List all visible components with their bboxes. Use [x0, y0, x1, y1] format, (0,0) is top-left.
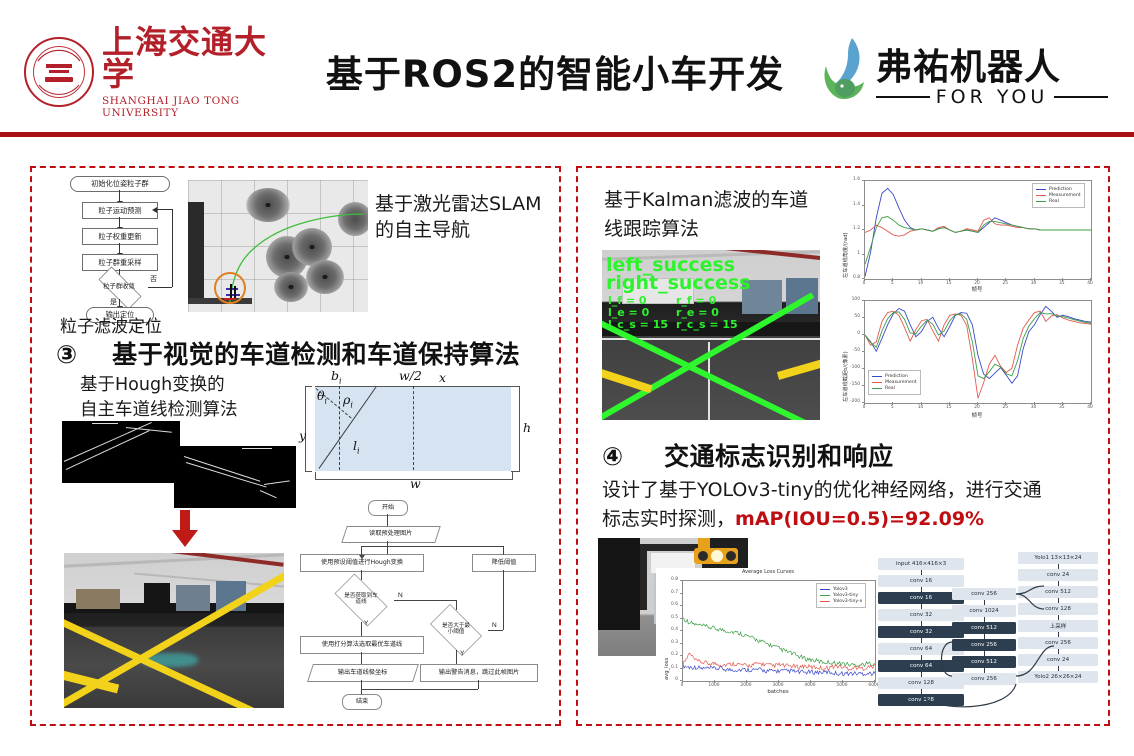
legend-label: Real	[885, 386, 895, 391]
y-tick	[680, 580, 683, 581]
hough-node-output-polar: 输出车道线极坐标	[307, 664, 419, 682]
legend-swatch	[1036, 201, 1046, 203]
kalman-caption-line2: 线跟踪算法	[604, 215, 824, 244]
legend-item: Measurement	[1036, 193, 1081, 198]
y-tick	[862, 317, 865, 318]
section-4-body-prefix: 标志实时探测，	[602, 508, 735, 530]
sjtu-seal-icon	[24, 37, 94, 107]
legend-swatch	[820, 589, 830, 591]
legend-label: Real	[1049, 199, 1059, 204]
y-tick-label: 0	[834, 331, 860, 336]
particle-filter-flowchart: 初始化位姿粒子群 粒子运动预测 粒子权重更新 粒子群重采样 粒子群收敛 否 是 …	[64, 176, 174, 306]
y-axis-label: 左车道线角度/(rad)	[842, 232, 849, 278]
university-name-en: SHANGHAI JIAO TONG UNIVERSITY	[102, 95, 294, 119]
y-tick	[680, 630, 683, 631]
hough-flowchart: 开始 读取预处理图片 使用预设阈值进行Hough变换 降低阈值 是否获取到车道线…	[294, 500, 544, 715]
y-axis-label: 左车道线截距b/(像素)	[842, 351, 849, 402]
legend-item: Prediction	[1036, 187, 1081, 192]
frame-post	[640, 544, 647, 610]
y-tick-label: 0.6	[656, 602, 678, 607]
y-tick-label: 0.8	[656, 577, 678, 582]
y-tick	[862, 300, 865, 301]
legend-item: Measurement	[872, 380, 917, 385]
net-skip-connections	[878, 536, 1100, 716]
dark-panel	[598, 538, 640, 630]
x-tick-label: 40	[1082, 405, 1098, 410]
section-4-heading: ④ 交通标志识别和响应	[602, 440, 894, 474]
legend-label: Yolov3-tiny-x	[833, 599, 862, 604]
y-tick	[680, 618, 683, 619]
section-4-body-line1: 设计了基于YOLOv3-tiny的优化神经网络，进行交通	[602, 476, 1092, 505]
hough-line-n1	[394, 600, 456, 601]
legend-label: Prediction	[1049, 187, 1072, 192]
x-axis-label: 帧号	[864, 285, 1090, 293]
y-axis-label: avg_loss	[664, 658, 670, 680]
y-tick	[862, 351, 865, 352]
chart-avg-loss: Average Loss Curves010002000300040005000…	[656, 568, 880, 698]
page-title: 基于ROS2的智能小车开发	[300, 44, 810, 98]
down-arrow-icon	[170, 510, 200, 548]
hough-node-score: 使用打分算法选取最优车道线	[300, 636, 424, 654]
slide-page: 上海交通大学 SHANGHAI JIAO TONG UNIVERSITY 基于R…	[0, 0, 1134, 756]
flow-line-feedback-in	[156, 209, 172, 210]
hough-line-loop-top	[361, 546, 503, 547]
foryou-leaf-icon	[818, 36, 870, 102]
hough-arrow-5	[361, 652, 362, 664]
y-tick-label: 0.5	[656, 615, 678, 620]
legend-item: Yolov3-tiny	[820, 593, 862, 598]
flow-arrow-1	[119, 190, 120, 202]
y-tick	[680, 668, 683, 669]
y-tick-label: 0.7	[656, 590, 678, 595]
chart-legend: PredictionMeasurementReal	[868, 370, 921, 395]
section-3-title: 基于视觉的车道检测和车道保持算法	[112, 340, 520, 369]
y-tick	[680, 680, 683, 681]
flow-line-feedback-v	[172, 209, 173, 287]
legend-swatch	[872, 382, 882, 384]
yolo-network-diagram: input 416×416×3conv 16conv 16conv 32conv…	[878, 536, 1100, 716]
hough-arrow-1	[387, 514, 388, 526]
hough-caption-line1: 基于Hough变换的	[80, 373, 238, 398]
y-tick	[862, 278, 865, 279]
tagline-rule-left	[876, 96, 930, 98]
y-tick-label: 1.2	[834, 226, 860, 231]
chart-kalman-angle: 05101520253035400.811.21.41.6帧号左车道线角度/(r…	[834, 174, 1096, 294]
section-4-title: 交通标志识别和响应	[664, 442, 894, 471]
x-axis-label: batches	[682, 689, 874, 695]
kalman-caption-line1: 基于Kalman滤波的车道	[604, 186, 824, 215]
legend-item: Real	[1036, 199, 1081, 204]
hough-node-start: 开始	[368, 500, 408, 516]
flow-branch-no: 否	[150, 274, 157, 284]
flow-node-converge-label: 粒子群收敛	[103, 284, 134, 291]
hough-line-loop-back	[361, 546, 362, 555]
flow-arrow-5	[119, 299, 120, 307]
y-tick	[680, 605, 683, 606]
hough-line-n2	[488, 630, 503, 631]
company-name-en: FOR YOU	[936, 86, 1049, 108]
tagline-rule-right	[1054, 96, 1108, 98]
hough-arrow-6	[361, 680, 362, 694]
flow-node-init: 初始化位姿粒子群	[70, 176, 170, 192]
geometry-h-bracket	[511, 386, 520, 472]
flow-arrow-3	[119, 243, 120, 254]
flow-node-weight: 粒子权重更新	[82, 228, 158, 245]
x-tick-label: 25	[997, 405, 1013, 410]
y-tick	[862, 368, 865, 369]
floor-marking	[602, 368, 652, 393]
chart-legend: Yolov3Yolov3-tinyYolov3-tiny-x	[816, 583, 866, 608]
flow-node-resample: 粒子群重采样	[82, 254, 158, 271]
crate	[76, 589, 120, 609]
slide-header: 上海交通大学 SHANGHAI JIAO TONG UNIVERSITY 基于R…	[0, 0, 1134, 122]
geometry-label-h: h	[523, 420, 531, 435]
particle-filter-caption: 粒子滤波定位	[60, 316, 162, 339]
traffic-light-box	[694, 548, 738, 564]
geometry-dashed-b	[339, 386, 340, 470]
slam-caption-line2: 的自主导航	[375, 218, 555, 244]
hough-decision-lane: 是否获取到车道线	[328, 580, 394, 620]
anvil-icon	[44, 62, 74, 84]
y-tick-label: 0.3	[656, 640, 678, 645]
hough-node-read: 读取预处理图片	[341, 526, 441, 543]
y-tick	[862, 229, 865, 230]
left-panel: 初始化位姿粒子群 粒子运动预测 粒子权重更新 粒子群重采样 粒子群收敛 否 是 …	[30, 166, 561, 726]
hough-branch-no-1: N	[398, 592, 403, 599]
legend-label: Yolov3-tiny	[833, 593, 858, 598]
hough-branch-no-2: N	[492, 622, 497, 629]
hough-line-warn-down	[478, 680, 479, 689]
hough-node-lower-threshold: 降低阈值	[472, 554, 536, 572]
legend-item: Yolov3-tiny-x	[820, 599, 862, 604]
legend-swatch	[1036, 195, 1046, 197]
hough-node-output-warning: 输出警告消息，跳过此帧图片	[420, 664, 538, 682]
hough-line-y2	[456, 650, 457, 664]
university-name-cn: 上海交通大学	[102, 26, 294, 90]
x-axis-label: 帧号	[864, 411, 1090, 419]
x-tick-label: 5	[884, 405, 900, 410]
geometry-label-l: li	[353, 438, 360, 456]
overlay-param-4: l_c_s = 15	[608, 318, 668, 331]
geometry-label-x: x	[439, 370, 446, 385]
chart-kalman-intercept: 0510152025303540-200-150-100-50050100帧号左…	[834, 294, 1096, 420]
slam-caption: 基于激光雷达SLAM 的自主导航	[375, 192, 555, 243]
geometry-label-rho: ρi	[343, 392, 353, 410]
edge-image-right	[174, 446, 296, 508]
hough-branch-yes-2: Y	[460, 650, 464, 657]
header-divider	[0, 132, 1134, 137]
hough-branch-yes-1: Y	[364, 620, 368, 627]
hough-line-loop-down	[503, 546, 504, 555]
y-tick	[680, 593, 683, 594]
hough-caption: 基于Hough变换的 自主车道线检测算法	[80, 373, 238, 424]
section-3-number: ③	[56, 340, 78, 369]
hough-arrow-2	[387, 541, 388, 554]
overlay-param-5: r_c_s = 15	[676, 318, 738, 331]
y-tick	[862, 254, 865, 255]
legend-swatch	[820, 601, 830, 603]
legend-swatch	[872, 388, 882, 390]
x-tick-label: 2000	[738, 683, 754, 688]
slam-caption-line1: 基于激光雷达SLAM	[375, 192, 555, 218]
overlay-right-status: right_success	[606, 272, 750, 294]
section-4-body-line2: 标志实时探测，mAP(IOU=0.5)=92.09%	[602, 505, 1092, 534]
hough-caption-line2: 自主车道线检测算法	[80, 398, 238, 423]
cabinet	[176, 585, 210, 611]
light-green	[726, 551, 736, 561]
map-metric: mAP(IOU=0.5)=92.09%	[735, 508, 984, 530]
company-tagline: FOR YOU	[876, 86, 1108, 108]
right-panel: 基于Kalman滤波的车道 线跟踪算法 left_success right_s…	[576, 166, 1110, 726]
sjtu-logo: 上海交通大学 SHANGHAI JIAO TONG UNIVERSITY	[24, 36, 294, 108]
flow-line-feedback-h	[148, 287, 172, 288]
y-tick	[680, 655, 683, 656]
lane-tracking-camera-view: left_success right_success l_f = 0 r_f =…	[602, 250, 820, 420]
detection-label	[698, 538, 710, 548]
section-4-number: ④	[602, 442, 624, 471]
geometry-label-theta: θi	[317, 388, 327, 406]
hough-line-merge	[361, 689, 478, 690]
y-tick-label: 1.4	[834, 202, 860, 207]
x-tick-label: 5000	[834, 683, 850, 688]
x-tick-label: 0	[674, 683, 690, 688]
chart-title: Average Loss Curves	[656, 569, 880, 575]
foryou-logo: 弗祐机器人 FOR YOU	[818, 34, 1110, 112]
slam-robot-pose	[222, 284, 246, 306]
y-tick-label: 1.6	[834, 177, 860, 182]
geometry-label-y: y	[299, 428, 306, 443]
chart-line-yolov3-tiny-x	[683, 653, 875, 670]
x-tick-label: 15	[941, 405, 957, 410]
light-red	[698, 551, 708, 561]
x-tick-label: 35	[1054, 405, 1070, 410]
y-tick	[862, 334, 865, 335]
y-tick	[680, 643, 683, 644]
legend-item: Yolov3	[820, 587, 862, 592]
hough-node-end: 结束	[342, 694, 382, 710]
hough-arrow-4	[361, 622, 362, 636]
hough-decision-min: 是否大于最小阈值	[424, 610, 488, 650]
lane-geometry-diagram: bi w/2 x θi ρi y li h w	[297, 366, 537, 496]
legend-label: Yolov3	[833, 587, 848, 592]
chart-line-measurement	[865, 218, 1091, 236]
y-tick	[862, 205, 865, 206]
legend-swatch	[872, 376, 882, 378]
x-tick-label: 0	[856, 405, 872, 410]
section-4-body: 设计了基于YOLOv3-tiny的优化神经网络，进行交通 标志实时探测，mAP(…	[602, 476, 1092, 535]
chart-line-yolov3	[683, 664, 875, 676]
legend-label: Prediction	[885, 374, 908, 379]
geometry-label-w-half: w/2	[399, 368, 422, 383]
slam-map-image	[188, 180, 368, 312]
flow-node-predict: 粒子运动预测	[82, 202, 158, 219]
geometry-label-w: w	[410, 476, 421, 491]
legend-item: Real	[872, 386, 917, 391]
legend-swatch	[1036, 189, 1046, 191]
company-name-cn: 弗祐机器人	[876, 38, 1061, 90]
edge-image-left	[62, 421, 180, 483]
chart-line-real	[865, 312, 1091, 379]
y-tick-label: 0.4	[656, 627, 678, 632]
flow-node-converge: 粒子群收敛	[90, 275, 148, 299]
x-tick-label: 20	[969, 405, 985, 410]
legend-label: Measurement	[1049, 193, 1081, 198]
hough-line-n2-up	[503, 570, 504, 630]
legend-swatch	[820, 595, 830, 597]
y-tick-label: 0.2	[656, 652, 678, 657]
x-tick-label: 3000	[770, 683, 786, 688]
legend-label: Measurement	[885, 380, 917, 385]
chart-line-real	[865, 217, 1091, 265]
x-tick-label: 10	[913, 405, 929, 410]
x-tick-label: 4000	[802, 683, 818, 688]
y-tick-label: 100	[834, 297, 860, 302]
dark-equipment	[144, 583, 170, 611]
light-yellow	[711, 550, 723, 562]
x-tick-label: 1000	[706, 683, 722, 688]
y-tick	[862, 180, 865, 181]
floor-marking	[777, 358, 820, 380]
chart-legend: PredictionMeasurementReal	[1032, 183, 1085, 208]
geometry-label-b: bi	[331, 368, 342, 386]
y-tick	[862, 402, 865, 403]
chart-line-yolov3-tiny	[683, 618, 875, 667]
kalman-caption: 基于Kalman滤波的车道 线跟踪算法	[604, 186, 824, 243]
y-tick	[862, 385, 865, 386]
geometry-dashed-center	[413, 386, 414, 470]
legend-item: Prediction	[872, 374, 917, 379]
lane-detection-photo	[64, 553, 284, 708]
flow-arrow-2	[119, 217, 120, 228]
x-tick-label: 30	[1026, 405, 1042, 410]
y-tick-label: 50	[834, 314, 860, 319]
